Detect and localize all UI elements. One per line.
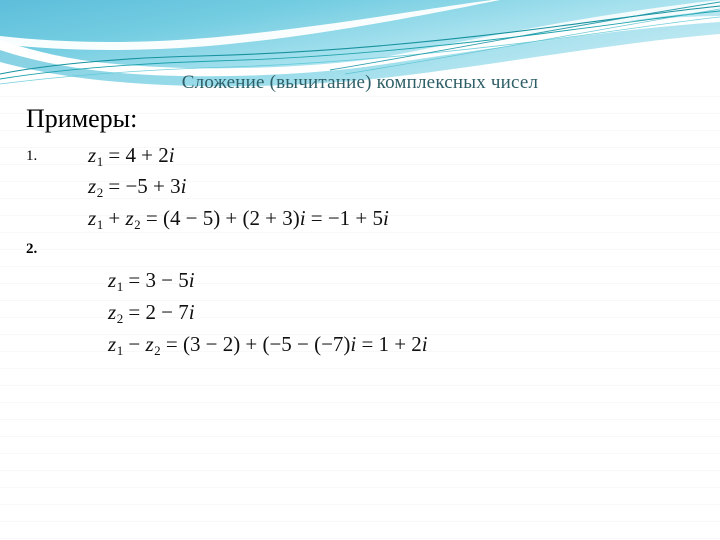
equation-ex2-diff: z1 − z2 = (3 − 2) + (−5 − (−7)i = 1 + 2i [108, 332, 428, 363]
slide: Сложение (вычитание) комплексных чисел П… [0, 0, 720, 540]
equation-ex1-z1: z1 = 4 + 2i [88, 143, 175, 174]
example-1-number: 1. [26, 148, 37, 164]
equation-ex1-sum: z1 + z2 = (4 − 5) + (2 + 3)i = −1 + 5i [88, 206, 389, 237]
equation-ex2-z1: z1 = 3 − 5i [108, 268, 195, 299]
slide-body: Примеры: 1. z1 = 4 + 2i z2 = −5 + 3i z1 … [0, 104, 720, 540]
equation-ex1-z2: z2 = −5 + 3i [88, 174, 186, 205]
page-title: Сложение (вычитание) комплексных чисел [0, 72, 720, 94]
equation-ex2-z2: z2 = 2 − 7i [108, 300, 195, 331]
examples-heading: Примеры: [26, 104, 137, 134]
example-2-number: 2. [26, 241, 37, 257]
